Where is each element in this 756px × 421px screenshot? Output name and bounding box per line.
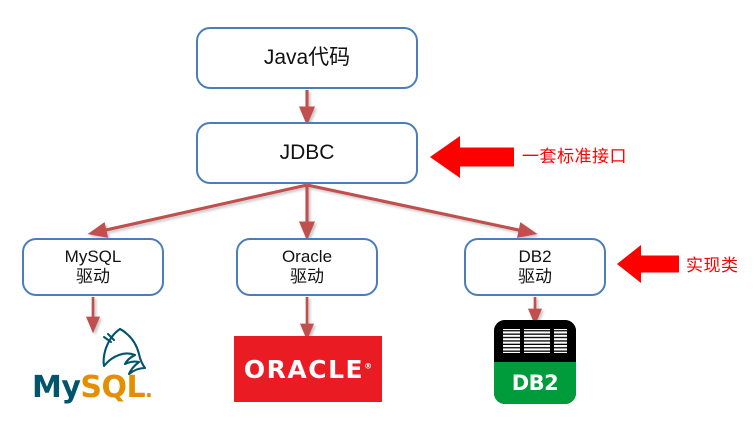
node-oracle-driver-line2: 驱动 — [290, 267, 324, 287]
mysql-wordmark-dot: . — [145, 378, 152, 402]
node-mysql-driver-line1: MySQL — [65, 247, 122, 267]
oracle-wordmark: ORACLE® — [244, 355, 372, 384]
ibm-logo-band — [494, 320, 576, 362]
node-java-code-label: Java代码 — [264, 46, 350, 70]
mysql-wordmark-accent: SQL — [80, 370, 145, 405]
node-oracle-driver-line1: Oracle — [282, 247, 332, 267]
node-db2-driver-line2: 驱动 — [518, 267, 552, 287]
left-block-arrow-icon-jdbc — [430, 134, 514, 185]
node-java-code[interactable]: Java代码 — [196, 27, 418, 89]
left-block-arrow-icon-impl — [617, 243, 679, 290]
oracle-trademark-mark: ® — [364, 361, 372, 370]
node-mysql-driver[interactable]: MySQL 驱动 — [22, 238, 164, 296]
diagram-canvas: Java代码 JDBC MySQL 驱动 Oracle 驱动 DB2 驱动 一套… — [0, 0, 756, 421]
node-jdbc[interactable]: JDBC — [196, 122, 418, 184]
ibm-striped-wordmark-icon — [503, 328, 567, 354]
oracle-logo: ORACLE® — [234, 336, 382, 402]
node-oracle-driver[interactable]: Oracle 驱动 — [236, 238, 378, 296]
callout-label-standard-interface: 一套标准接口 — [522, 142, 627, 167]
node-db2-driver-line1: DB2 — [518, 247, 551, 267]
connector-jdbc-to-mysql — [97, 185, 307, 232]
connector-jdbc-to-db2 — [307, 185, 528, 232]
mysql-logo: MySQL. — [28, 328, 170, 404]
oracle-wordmark-text: ORACLE — [244, 355, 364, 384]
callout-label-implementation-class: 实现类 — [686, 251, 739, 276]
node-jdbc-label: JDBC — [280, 141, 335, 165]
mysql-wordmark: MySQL. — [32, 370, 152, 405]
node-mysql-driver-line2: 驱动 — [76, 267, 110, 287]
ibm-db2-logo: DB2 — [494, 320, 576, 404]
db2-logo-band: DB2 — [494, 362, 576, 404]
node-db2-driver[interactable]: DB2 驱动 — [464, 238, 606, 296]
db2-wordmark: DB2 — [512, 371, 559, 395]
mysql-wordmark-primary: My — [32, 370, 80, 405]
